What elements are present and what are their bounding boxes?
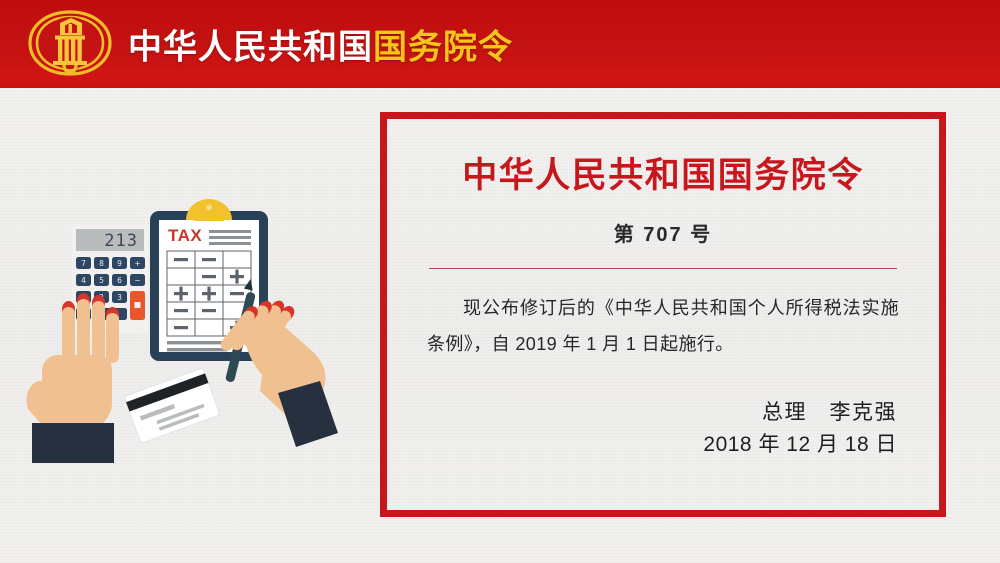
svg-text:7: 7 xyxy=(81,259,86,268)
header-title-gold: 国务院令 xyxy=(373,29,513,67)
decree-body-text: 现公布修订后的《中华人民共和国个人所得税法实施条例》，自 2019 年 1 月 … xyxy=(421,290,905,362)
decree-card: 中华人民共和国国务院令 第 707 号 现公布修订后的《中华人民共和国个人所得税… xyxy=(380,112,946,517)
svg-text:6: 6 xyxy=(117,276,122,285)
decree-title: 中华人民共和国国务院令 xyxy=(421,155,905,197)
header-title: 中华人民共和国国务院令 xyxy=(128,20,513,69)
svg-text:4: 4 xyxy=(81,276,86,285)
title-divider xyxy=(429,268,897,269)
signature-date: 2018 年 12 月 18 日 xyxy=(703,429,897,462)
header-title-white: 中华人民共和国 xyxy=(128,29,373,67)
svg-text:213: 213 xyxy=(104,231,138,251)
svg-text:−: − xyxy=(134,276,140,285)
svg-text:8: 8 xyxy=(99,259,104,268)
svg-text:+: + xyxy=(134,259,140,268)
svg-text:5: 5 xyxy=(99,276,104,285)
svg-text:9: 9 xyxy=(117,259,122,268)
state-taxation-emblem-icon xyxy=(24,9,116,79)
tax-filing-illustration: 213 xyxy=(20,185,360,470)
svg-text:3: 3 xyxy=(117,293,122,302)
signature-block: 总理 李克强 2018 年 12 月 18 日 xyxy=(703,397,897,462)
slide-root: 中华人民共和国国务院令 213 xyxy=(0,0,1000,563)
signature-name: 总理 李克强 xyxy=(703,397,897,430)
header-bar: 中华人民共和国国务院令 xyxy=(0,0,1000,88)
svg-text:TAX: TAX xyxy=(168,226,202,245)
credit-card-graphic xyxy=(124,368,220,444)
decree-number: 第 707 号 xyxy=(421,218,905,247)
